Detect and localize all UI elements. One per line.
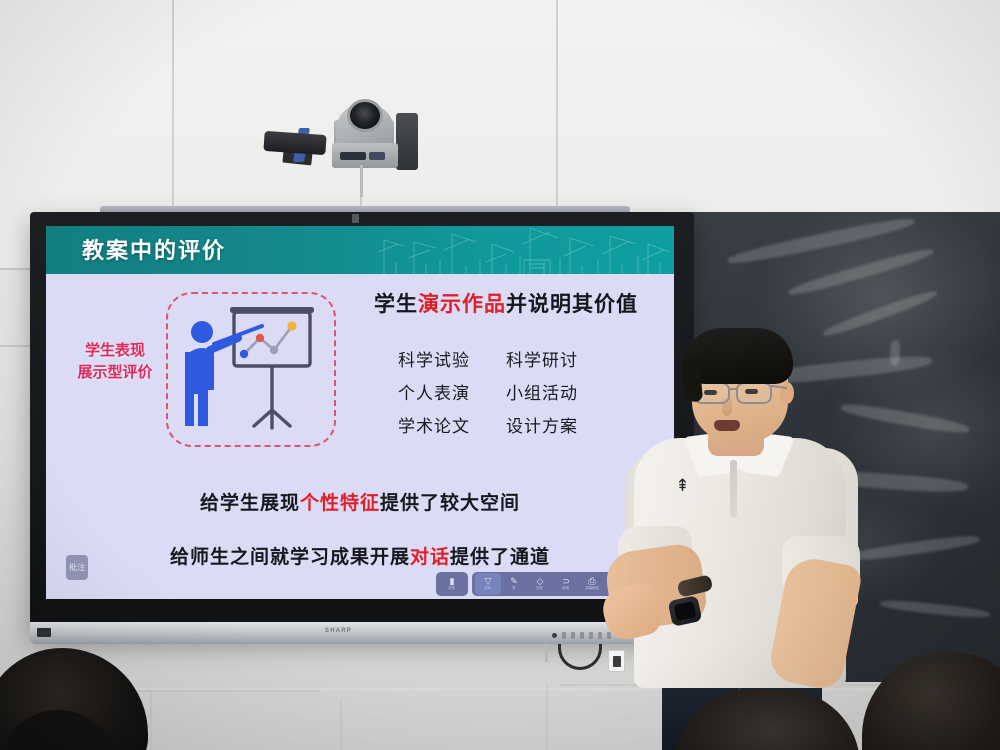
headline-highlight: 演示作品: [418, 293, 506, 316]
cityscape-crane-pattern-icon: [374, 226, 674, 274]
tool-select-button[interactable]: ▽ 选择: [475, 573, 501, 595]
eraser-icon: ◇: [537, 577, 544, 586]
slide-headline: 学生演示作品并说明其价值: [346, 288, 666, 318]
cursor-icon: ▽: [485, 577, 492, 586]
tool-pen-button[interactable]: ✎ 笔: [501, 573, 527, 595]
slide-list: 科学试验科学研讨 个人表演小组活动 学术论文设计方案: [398, 344, 628, 443]
slide-annotate-label: 批注: [69, 564, 85, 572]
display-corner-badge: [37, 628, 51, 637]
collapse-icon: ▮: [450, 577, 455, 586]
display-stand-leg: [545, 644, 548, 662]
presenter-with-chart-illustration-icon: [176, 298, 326, 440]
left-category-label: 学生表现 展示型评价: [63, 340, 167, 384]
display-control-buttons[interactable]: [552, 632, 611, 639]
classroom-photo: 教案中的评价: [0, 0, 1000, 750]
display-screen[interactable]: 教案中的评价: [46, 226, 674, 599]
undo-icon: ⊃: [562, 577, 570, 586]
slide-title: 教案中的评价: [82, 233, 226, 265]
ir-sensor-icon: [352, 214, 359, 223]
screenshot-icon: ⎙: [588, 577, 595, 586]
shirt-logo-icon: ⇞: [674, 476, 691, 496]
slide-annotate-button[interactable]: 批注: [66, 555, 88, 580]
list-item: 个人表演小组活动: [398, 377, 628, 410]
tool-eraser-button[interactable]: ◇ 橡皮: [527, 573, 553, 595]
presenter-hair: [685, 328, 793, 384]
tool-undo-button[interactable]: ⊃ 撤销: [553, 573, 579, 595]
headline-pre: 学生: [374, 293, 418, 316]
headline-post: 并说明其价值: [506, 293, 638, 316]
camera-lens-icon: [347, 99, 383, 132]
tool-screenshot-button[interactable]: ⎙ 屏幕截图: [579, 573, 605, 595]
slide-bottom-line-1: 给学生展现个性特征提供了较大空间: [46, 488, 674, 515]
display-brand-label: SHARP: [325, 628, 352, 634]
list-item: 学术论文设计方案: [398, 410, 628, 443]
presentation-slide[interactable]: 教案中的评价: [46, 226, 674, 599]
slide-bottom-line-2: 给师生之间就学习成果开展对话提供了通道: [46, 542, 674, 569]
pen-icon: ✎: [510, 577, 518, 586]
slide-header-bar: 教案中的评价: [46, 226, 674, 274]
power-button-icon[interactable]: [552, 633, 557, 638]
toolbar-collapse-group[interactable]: ▮ 收起: [436, 572, 468, 596]
list-item: 科学试验科学研讨: [398, 344, 628, 377]
presenter: ⇞: [612, 330, 862, 750]
toolbar-collapse-button[interactable]: ▮ 收起: [439, 573, 465, 595]
